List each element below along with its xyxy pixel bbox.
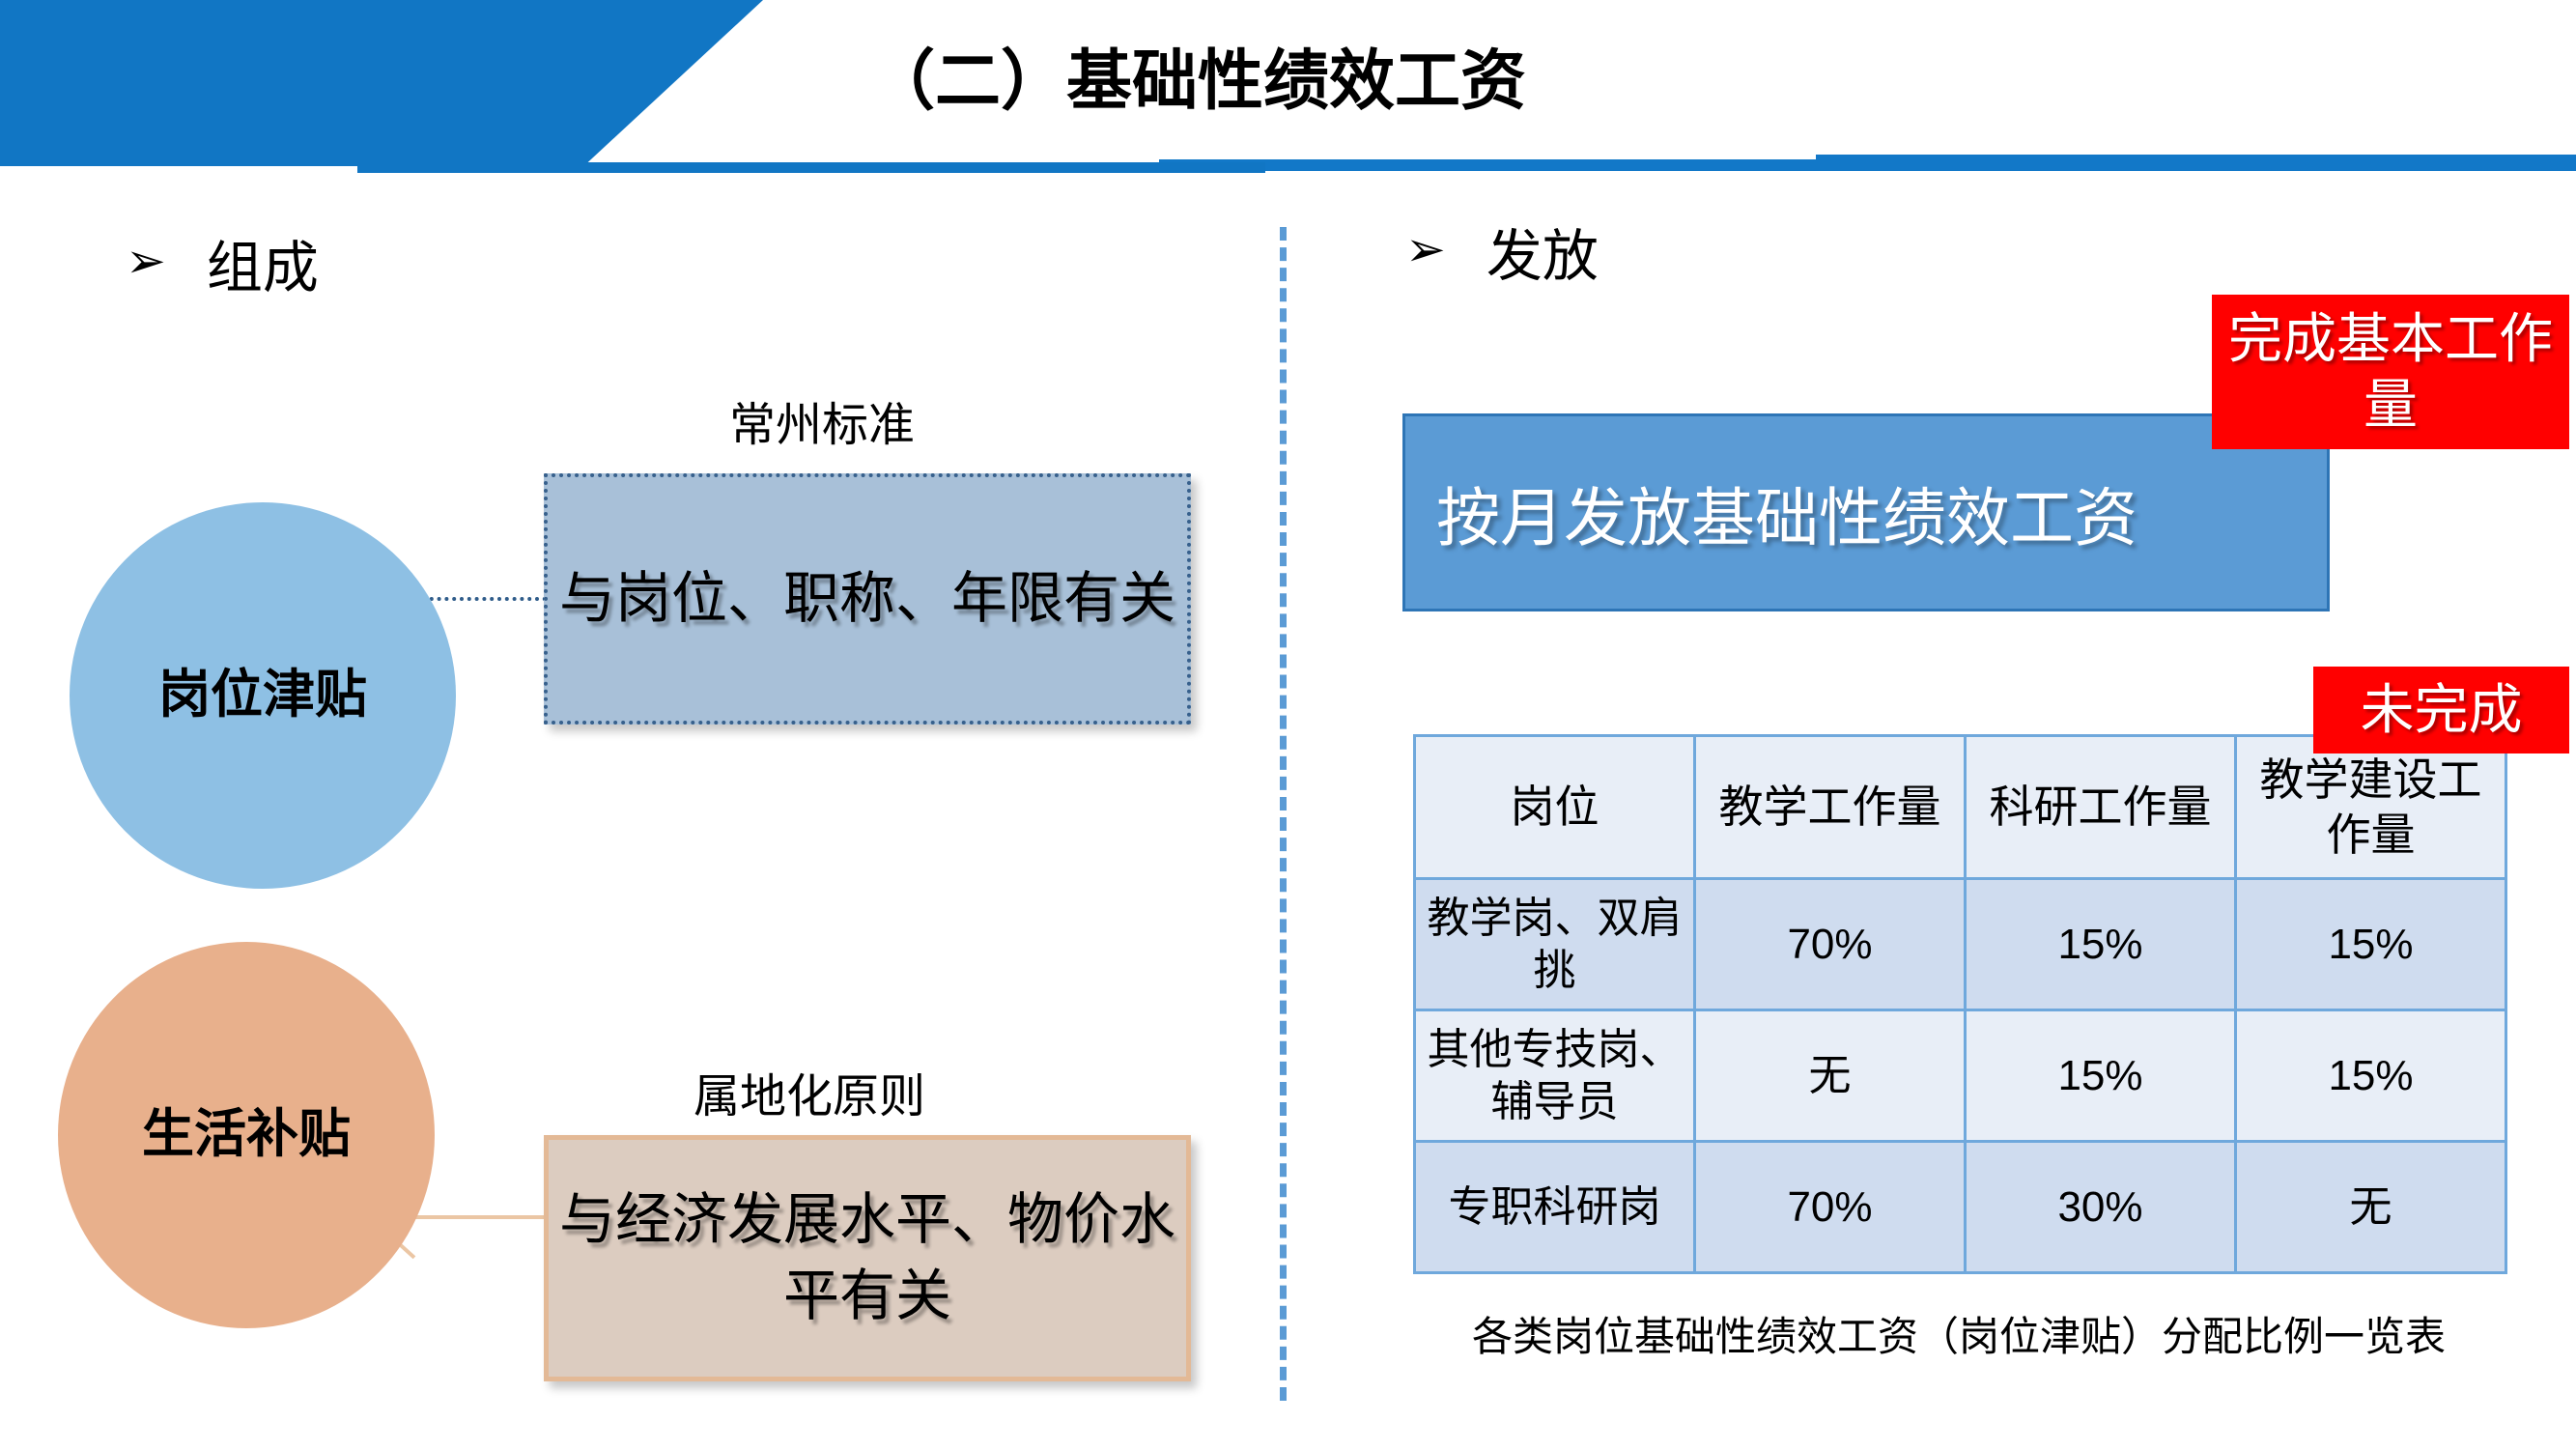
table-caption: 各类岗位基础性绩效工资（岗位津贴）分配比例一览表 bbox=[1413, 1309, 2505, 1365]
table-cell-research: 30% bbox=[1966, 1142, 2236, 1273]
table-header-cell: 岗位 bbox=[1415, 736, 1695, 879]
caption-locality-principle: 属地化原则 bbox=[694, 1058, 925, 1125]
table-cell-post: 教学岗、双肩挑 bbox=[1415, 879, 1695, 1010]
fact-box-living-subsidy: 与经济发展水平、物价水平有关 bbox=[544, 1135, 1191, 1381]
arrow-bullet-icon: ➢ bbox=[126, 237, 166, 285]
header-rule-left bbox=[357, 162, 1265, 173]
table-cell-construction: 15% bbox=[2236, 879, 2506, 1010]
table-cell-construction: 无 bbox=[2236, 1142, 2506, 1273]
circle-post-allowance: 岗位津贴 bbox=[70, 502, 456, 889]
right-panel-heading: ➢ 发放 bbox=[1405, 211, 1599, 292]
slide-canvas: 二、绩效工资改革 （二）基础性绩效工资 ➢ 组成 岗位津贴 生活补贴 常州标准 … bbox=[0, 0, 2576, 1450]
circle-living-subsidy: 生活补贴 bbox=[58, 942, 435, 1328]
table-cell-teaching: 无 bbox=[1695, 1010, 1966, 1142]
table-header-cell: 教学建设工作量 bbox=[2236, 736, 2506, 879]
left-panel-heading: ➢ 组成 bbox=[126, 222, 319, 303]
table-cell-teaching: 70% bbox=[1695, 1142, 1966, 1273]
panel-divider bbox=[1280, 227, 1287, 1401]
header-rule-right bbox=[1159, 159, 2576, 171]
table-row: 专职科研岗 70% 30% 无 bbox=[1415, 1142, 2506, 1273]
allocation-ratio-table: 岗位 教学工作量 科研工作量 教学建设工作量 教学岗、双肩挑 70% 15% 1… bbox=[1413, 734, 2507, 1274]
table-row: 其他专技岗、辅导员 无 15% 15% bbox=[1415, 1010, 2506, 1142]
table-row: 教学岗、双肩挑 70% 15% 15% bbox=[1415, 879, 2506, 1010]
right-panel-heading-label: 发放 bbox=[1486, 211, 1599, 292]
table-header-cell: 科研工作量 bbox=[1966, 736, 2236, 879]
status-badge-completed: 完成基本工作量 bbox=[2212, 295, 2569, 449]
arrow-bullet-icon: ➢ bbox=[1405, 225, 1446, 273]
table-cell-post: 专职科研岗 bbox=[1415, 1142, 1695, 1273]
table-cell-construction: 15% bbox=[2236, 1010, 2506, 1142]
table-cell-research: 15% bbox=[1966, 1010, 2236, 1142]
page-title: （二）基础性绩效工资 bbox=[869, 14, 1526, 149]
fact-box-post-allowance: 与岗位、职称、年限有关 bbox=[544, 473, 1191, 725]
header-band bbox=[0, 0, 763, 166]
table-cell-post: 其他专技岗、辅导员 bbox=[1415, 1010, 1695, 1142]
table-header-row: 岗位 教学工作量 科研工作量 教学建设工作量 bbox=[1415, 736, 2506, 879]
caption-changzhou-standard: 常州标准 bbox=[729, 386, 915, 454]
monthly-payout-box: 按月发放基础性绩效工资 bbox=[1402, 413, 2330, 611]
table-cell-teaching: 70% bbox=[1695, 879, 1966, 1010]
table-header-cell: 教学工作量 bbox=[1695, 736, 1966, 879]
table-cell-research: 15% bbox=[1966, 879, 2236, 1010]
status-badge-incomplete: 未完成 bbox=[2313, 667, 2569, 753]
left-panel-heading-label: 组成 bbox=[207, 222, 319, 303]
